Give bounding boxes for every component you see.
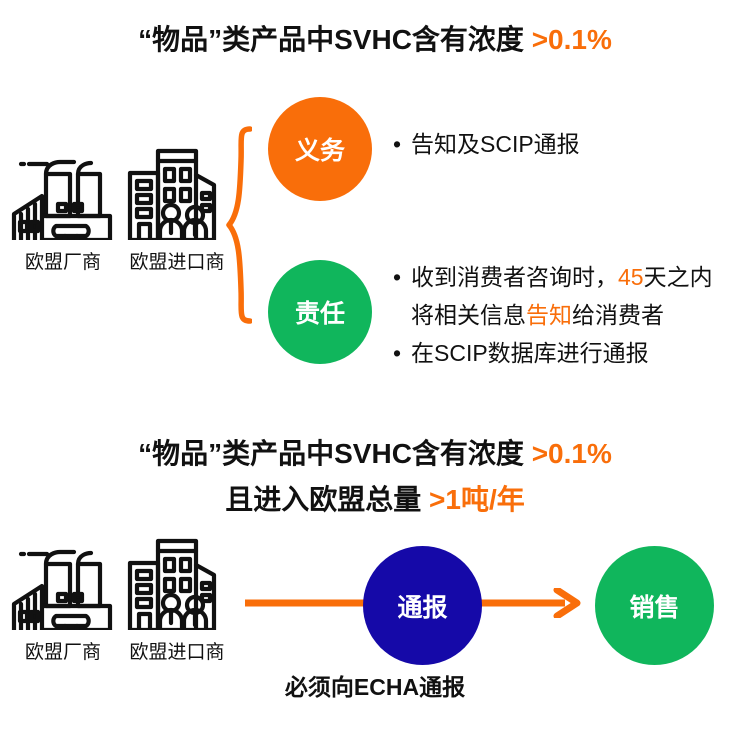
flow-step-sell-label: 销售 <box>629 588 679 624</box>
bottom-heading-line1: “物品”类产品中SVHC含有浓度 >0.1% <box>0 432 750 472</box>
branch-circle-duty-label: 义务 <box>295 131 345 167</box>
list-item: • 告知及SCIP通报 <box>393 125 580 163</box>
actor-eu-importer-top: 欧盟进口商 <box>122 143 232 274</box>
actor-eu-manufacturer-bottom: 欧盟厂商 <box>8 538 118 664</box>
top-heading: “物品”类产品中SVHC含有浓度 >0.1% <box>0 18 750 58</box>
flow-footnote: 必须向ECHA通报 <box>0 668 750 702</box>
actor-caption: 欧盟进口商 <box>122 637 232 664</box>
branch-circle-responsibility-label: 责任 <box>295 294 345 330</box>
office-building-icon <box>122 143 232 240</box>
actor-caption: 欧盟进口商 <box>122 247 232 274</box>
duty-bullet-list: • 告知及SCIP通报 <box>393 125 580 163</box>
bottom-heading-line1-accent: >0.1% <box>532 438 612 469</box>
bullet-dot-icon: • <box>393 125 411 163</box>
factory-icon <box>8 538 118 630</box>
actor-eu-importer-bottom: 欧盟进口商 <box>122 533 232 664</box>
bullet-text: 将相关信息告知给消费者 <box>411 296 664 334</box>
factory-icon <box>8 148 118 240</box>
actor-caption: 欧盟厂商 <box>8 247 118 274</box>
bullet-segment: 收到消费者咨询时， <box>411 264 618 290</box>
branch-brace <box>226 125 252 330</box>
bottom-heading-line1-prefix: “物品”类产品中SVHC含有浓度 <box>138 438 532 469</box>
bullet-dot-icon: • <box>393 334 411 372</box>
bullet-indent-spacer <box>393 296 411 334</box>
bottom-heading-line2: 且进入欧盟总量 >1吨/年 <box>0 478 750 518</box>
responsibility-bullet-list: • 收到消费者咨询时，45天之内 将相关信息告知给消费者 • 在SCIP数据库进… <box>393 258 713 372</box>
bullet-segment-accent: 告知 <box>526 302 572 328</box>
actor-caption: 欧盟厂商 <box>8 637 118 664</box>
bullet-text: 告知及SCIP通报 <box>411 125 580 163</box>
bullet-dot-icon: • <box>393 258 411 296</box>
branch-circle-responsibility[interactable]: 责任 <box>268 260 372 364</box>
bullet-text: 收到消费者咨询时，45天之内 <box>411 258 713 296</box>
actor-eu-manufacturer-top: 欧盟厂商 <box>8 148 118 274</box>
branch-circle-duty[interactable]: 义务 <box>268 97 372 201</box>
bullet-segment-accent: 45 <box>618 264 644 290</box>
bullet-segment: 将相关信息 <box>411 302 526 328</box>
flow-step-notify-label: 通报 <box>397 588 447 624</box>
flow-step-notify[interactable]: 通报 <box>363 546 482 665</box>
bullet-text: 在SCIP数据库进行通报 <box>411 334 649 372</box>
flow-step-sell[interactable]: 销售 <box>595 546 714 665</box>
list-item-continuation: 将相关信息告知给消费者 <box>393 296 713 334</box>
list-item: • 收到消费者咨询时，45天之内 <box>393 258 713 296</box>
bullet-segment: 天之内 <box>644 264 713 290</box>
curly-brace-icon <box>226 125 252 325</box>
top-heading-prefix: “物品”类产品中SVHC含有浓度 <box>138 24 532 55</box>
bottom-heading-line2-accent: >1吨/年 <box>429 484 525 515</box>
office-building-icon <box>122 533 232 630</box>
list-item: • 在SCIP数据库进行通报 <box>393 334 713 372</box>
bottom-heading-line2-prefix: 且进入欧盟总量 <box>225 484 429 515</box>
bullet-segment: 给消费者 <box>572 302 664 328</box>
top-heading-accent: >0.1% <box>532 24 612 55</box>
